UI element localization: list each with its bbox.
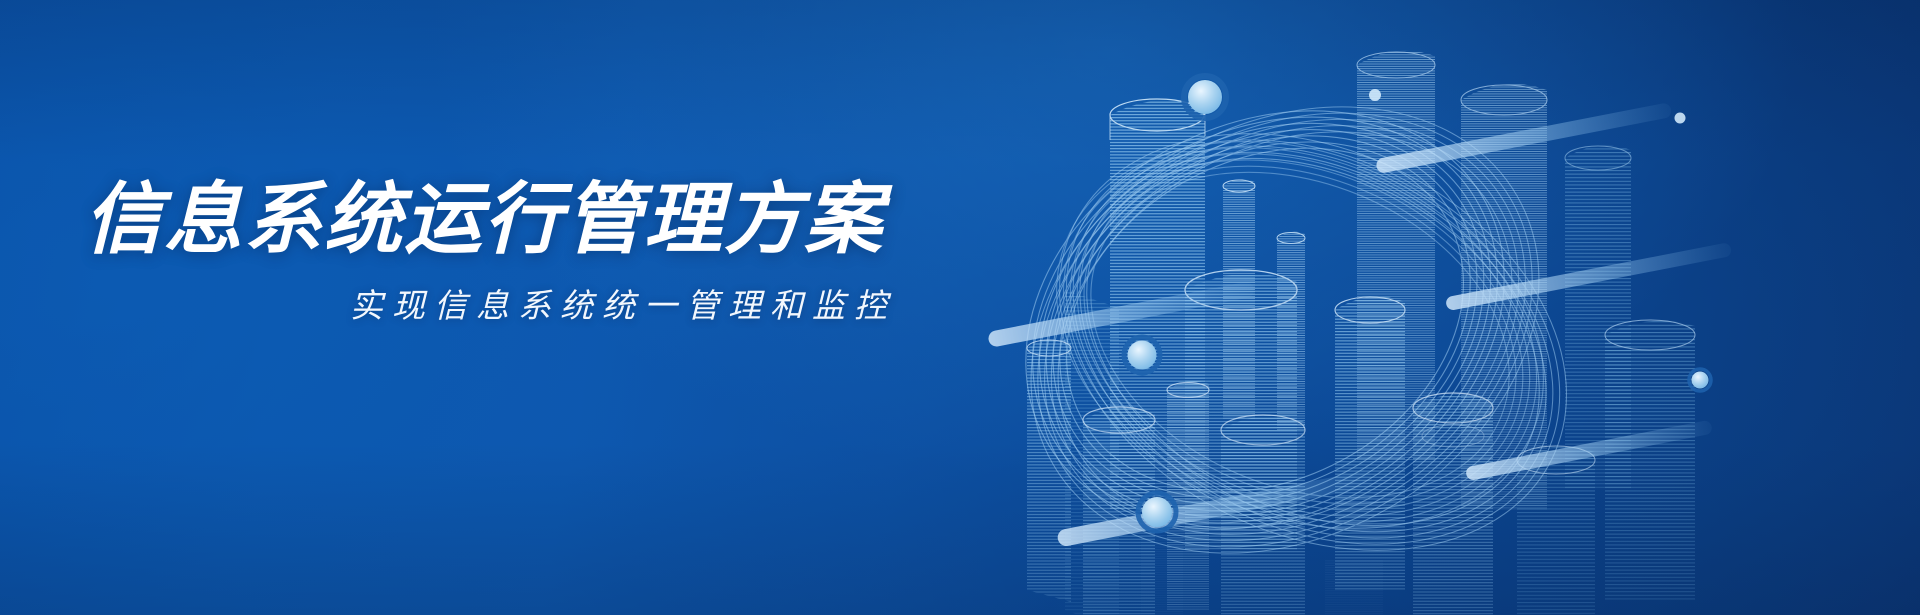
hero-banner: 信息系统运行管理方案 实现信息系统统一管理和监控 (0, 0, 1920, 615)
glow-dot (1689, 369, 1711, 391)
glow-dot (1184, 76, 1226, 118)
glow-dot (1675, 113, 1686, 124)
banner-subtitle: 实现信息系统统一管理和监控 (84, 279, 904, 327)
glow-dot (1138, 493, 1176, 531)
banner-title: 信息系统运行管理方案 (84, 178, 904, 261)
glow-dot (1124, 337, 1160, 373)
glow-dot (1369, 89, 1381, 101)
banner-text-block: 信息系统运行管理方案 实现信息系统统一管理和监控 (84, 178, 904, 327)
wireframe-city-illustration (905, 0, 1920, 615)
